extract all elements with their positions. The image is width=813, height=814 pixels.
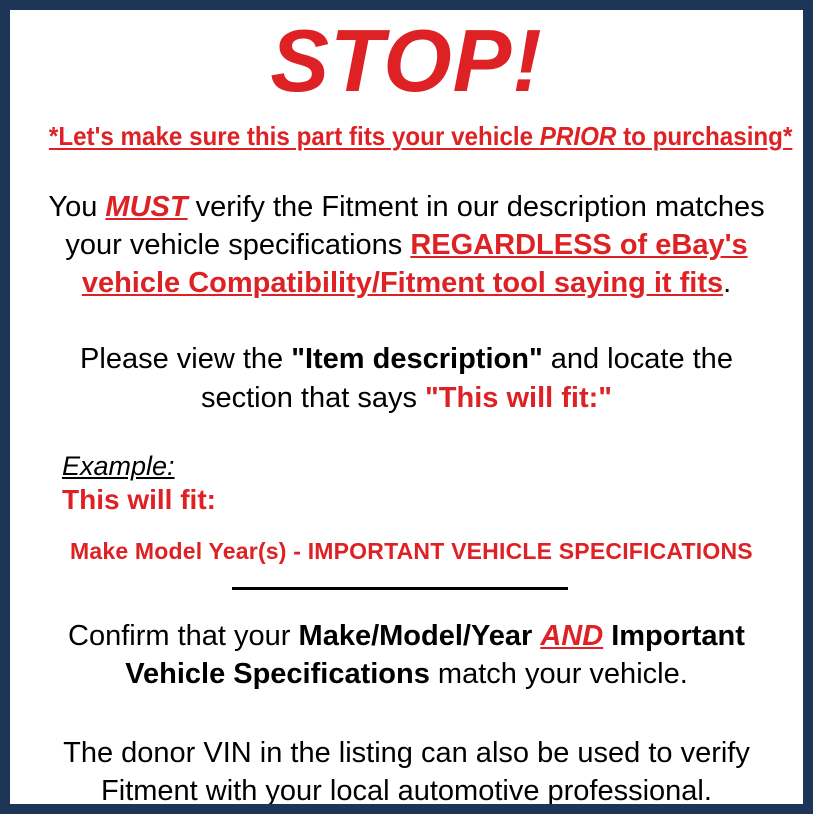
must-para-part1: You <box>48 191 105 223</box>
must-emphasis: MUST <box>105 191 187 223</box>
confirm-para-part2: match your vehicle. <box>430 658 688 690</box>
must-para-part3: . <box>723 267 731 299</box>
confirm-space-2 <box>603 620 611 652</box>
divider-rule <box>232 587 568 590</box>
item-description-emphasis: "Item description" <box>291 343 542 375</box>
must-verify-paragraph: You MUST verify the Fitment in our descr… <box>22 188 791 303</box>
tagline-banner: *Let's make sure this part fits your veh… <box>49 122 764 152</box>
divider <box>22 587 791 601</box>
example-block: Example: This will fit: Make Model Year(… <box>22 451 791 565</box>
and-emphasis: AND <box>540 620 603 652</box>
example-label: Example: <box>62 451 175 482</box>
page-title: STOP! <box>22 10 791 106</box>
example-fit-heading: This will fit: <box>62 484 791 516</box>
make-model-year-emphasis: Make/Model/Year <box>299 620 533 652</box>
confirm-paragraph: Confirm that your Make/Model/Year AND Im… <box>22 617 791 694</box>
please-para-part1: Please view the <box>80 343 291 375</box>
fitment-notice-card: STOP! *Let's make sure this part fits yo… <box>0 0 813 814</box>
notice-content: STOP! *Let's make sure this part fits yo… <box>10 10 803 804</box>
tagline-text-after: to purchasing* <box>616 121 792 151</box>
please-view-paragraph: Please view the "Item description" and l… <box>22 340 791 417</box>
example-label-row: Example: <box>62 451 791 482</box>
donor-vin-paragraph: The donor VIN in the listing can also be… <box>22 734 791 811</box>
tagline-text-before: *Let's make sure this part fits your veh… <box>49 121 540 151</box>
this-will-fit-quote: "This will fit:" <box>425 382 612 414</box>
confirm-para-part1: Confirm that your <box>68 620 298 652</box>
example-spec-line: Make Model Year(s) - IMPORTANT VEHICLE S… <box>70 538 791 565</box>
tagline-prior-emphasis: PRIOR <box>540 121 617 151</box>
